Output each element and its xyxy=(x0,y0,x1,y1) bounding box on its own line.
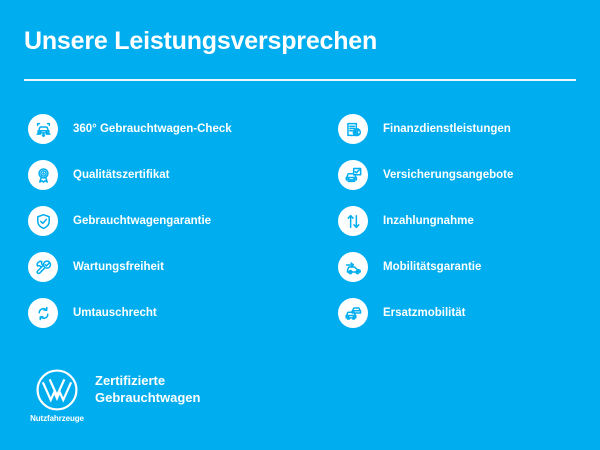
promise-item-inzahlungnahme: Inzahlungnahme xyxy=(338,206,588,236)
brand-claim-line-1: Zertifizierte xyxy=(95,372,200,389)
promises-column-left: 360° Gebrauchtwagen-Check Qualitätszerti… xyxy=(28,114,328,328)
promise-label: Inzahlungnahme xyxy=(383,215,474,228)
car-arrow-icon xyxy=(338,252,368,282)
promise-label: 360° Gebrauchtwagen-Check xyxy=(73,123,232,136)
promise-label: Finanzdienstleistungen xyxy=(383,123,511,136)
volkswagen-logo xyxy=(35,368,79,412)
promise-label: Versicherungsangebote xyxy=(383,169,513,182)
promise-item-versicherungsangebote: Versicherungsangebote xyxy=(338,160,588,190)
up-down-arrows-icon xyxy=(338,206,368,236)
promise-item-umtauschrecht: Umtauschrecht xyxy=(28,298,328,328)
promise-label: Umtauschrecht xyxy=(73,307,157,320)
promise-item-gebrauchtwagen-check: 360° Gebrauchtwagen-Check xyxy=(28,114,328,144)
award-rosette-icon xyxy=(28,160,58,190)
volkswagen-logo-wrap: Nutzfahrzeuge xyxy=(28,368,86,423)
promise-label: Wartungsfreiheit xyxy=(73,261,164,274)
two-cars-icon xyxy=(338,298,368,328)
brand-claim-line-2: Gebrauchtwagen xyxy=(95,389,200,406)
promise-label: Ersatzmobilität xyxy=(383,307,465,320)
car-checklist-icon xyxy=(338,160,368,190)
promise-label: Gebrauchtwagengarantie xyxy=(73,215,211,228)
promise-item-finanzdienstleistungen: Finanzdienstleistungen xyxy=(338,114,588,144)
wrench-check-icon xyxy=(28,252,58,282)
promise-item-gebrauchtwagengarantie: Gebrauchtwagengarantie xyxy=(28,206,328,236)
promise-item-wartungsfreiheit: Wartungsfreiheit xyxy=(28,252,328,282)
promise-label: Mobilitätsgarantie xyxy=(383,261,481,274)
promise-item-qualitaetszertifikat: Qualitätszertifikat xyxy=(28,160,328,190)
exchange-arrows-icon xyxy=(28,298,58,328)
promise-item-ersatzmobilitaet: Ersatzmobilität xyxy=(338,298,588,328)
poster-header: Unsere Leistungsversprechen xyxy=(24,28,576,56)
document-euro-icon xyxy=(338,114,368,144)
promise-item-mobilitaetsgarantie: Mobilitätsgarantie xyxy=(338,252,588,282)
shield-check-icon xyxy=(28,206,58,236)
title-divider xyxy=(24,79,576,81)
brand-claim: Zertifizierte Gebrauchtwagen xyxy=(95,372,200,406)
page-title: Unsere Leistungsversprechen xyxy=(24,28,576,56)
logo-subtitle: Nutzfahrzeuge xyxy=(30,414,84,423)
car-inspection-icon xyxy=(28,114,58,144)
promise-label: Qualitätszertifikat xyxy=(73,169,170,182)
leistungsversprechen-poster: Unsere Leistungsversprechen 360° xyxy=(0,0,600,450)
promises-column-right: Finanzdienstleistungen Versicherungsange… xyxy=(338,114,588,328)
brand-lockup: Nutzfahrzeuge Zertifizierte Gebrauchtwag… xyxy=(28,368,200,423)
